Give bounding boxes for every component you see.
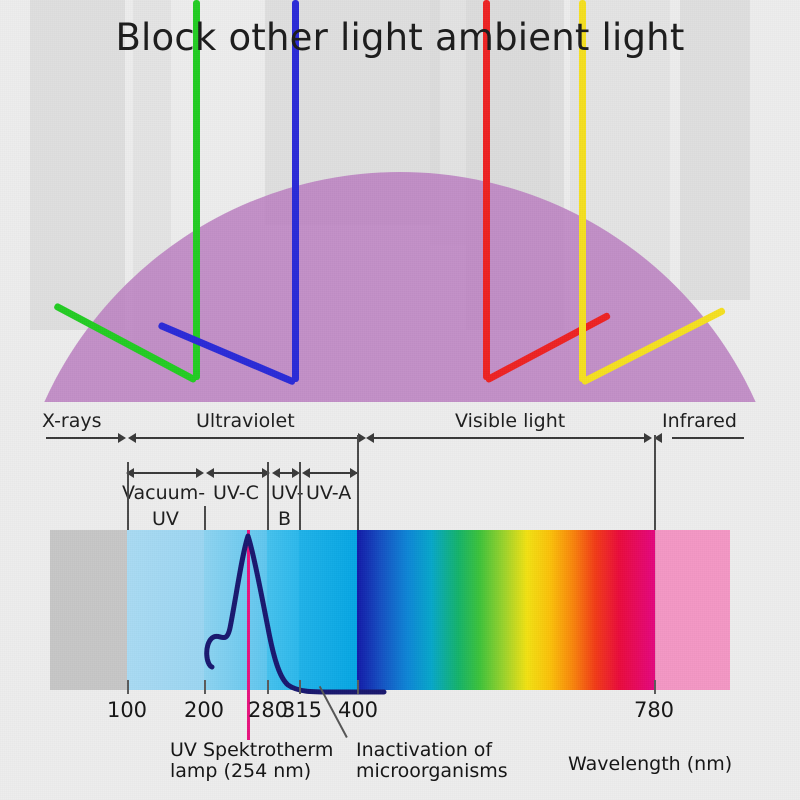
purple-dome: [10, 172, 790, 402]
inactivation-annotation-line1: Inactivation of: [356, 740, 508, 761]
screenshot-root: Block other light ambient light X-rays U…: [0, 0, 800, 800]
ambient-light-illustration: [0, 0, 800, 402]
tick-780: [654, 680, 656, 694]
tick-280: [267, 680, 269, 694]
tick-label-315: 315: [272, 698, 332, 722]
lamp-annotation-line2: lamp (254 nm): [170, 761, 333, 782]
tick-200: [204, 680, 206, 694]
lamp-annotation-line1: UV Spektrotherm: [170, 740, 333, 761]
tick-label-780: 780: [624, 698, 684, 722]
tick-315: [299, 680, 301, 694]
page-title: Block other light ambient light: [0, 16, 800, 59]
tick-label-100: 100: [97, 698, 157, 722]
tick-400: [357, 680, 359, 694]
tick-100: [127, 680, 129, 694]
inactivation-annotation: Inactivation of microorganisms: [356, 740, 508, 783]
lamp-annotation: UV Spektrotherm lamp (254 nm): [170, 740, 333, 783]
inactivation-annotation-line2: microorganisms: [356, 761, 508, 782]
spectrum-chart: X-rays Ultraviolet Visible light Infrare…: [0, 402, 800, 800]
wavelength-axis-label: Wavelength (nm): [568, 754, 732, 775]
tick-label-200: 200: [174, 698, 234, 722]
